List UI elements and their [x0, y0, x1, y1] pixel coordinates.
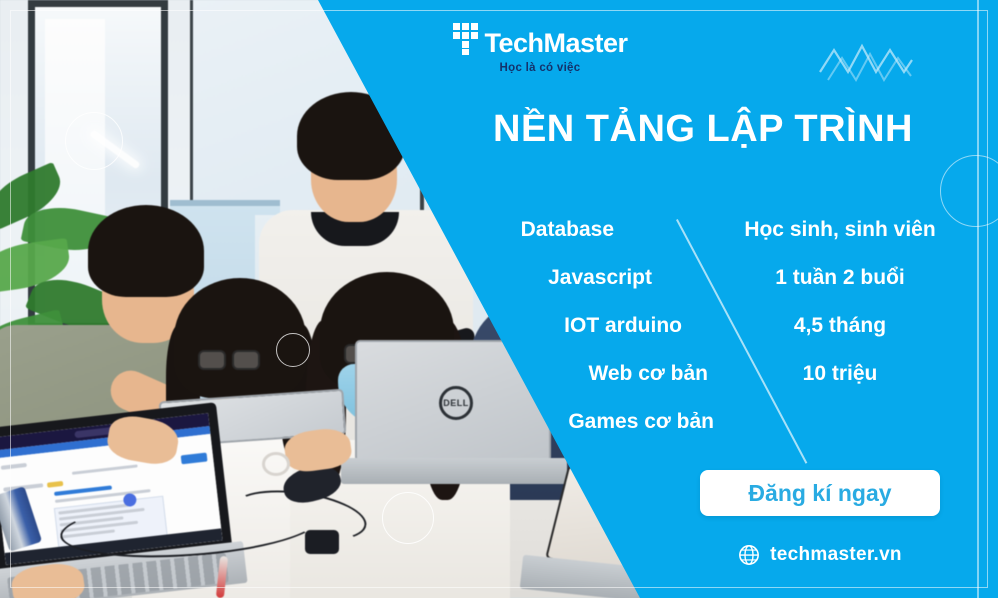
course-topic-item: Web cơ bản — [420, 362, 710, 386]
circle-outline-decoration — [65, 112, 123, 170]
wristwatch — [262, 452, 290, 476]
usb-dongle — [305, 530, 339, 554]
course-topic-item: Database — [420, 218, 710, 242]
course-detail-list: Học sinh, sinh viên 1 tuần 2 buổi 4,5 th… — [700, 218, 980, 410]
logo-tagline: Học là có việc — [420, 62, 660, 74]
course-topic-item: Javascript — [420, 266, 710, 290]
logo-wordmark: TechMaster — [484, 30, 627, 57]
website-link[interactable]: techmaster.vn — [700, 540, 940, 570]
course-topic-item: Games cơ bản — [420, 410, 726, 434]
course-detail-item: 1 tuần 2 buổi — [700, 266, 980, 290]
course-detail-item: 4,5 tháng — [700, 314, 980, 338]
course-topic-list: Database Javascript IOT arduino Web cơ b… — [420, 218, 710, 458]
techmaster-course-banner: DELL — [0, 0, 998, 598]
register-button[interactable]: Đăng kí ngay — [700, 470, 940, 516]
circle-outline-decoration — [382, 492, 434, 544]
course-detail-item: Học sinh, sinh viên — [700, 218, 980, 242]
website-label: techmaster.vn — [770, 544, 902, 566]
circle-outline-decoration — [276, 333, 310, 367]
course-topic-item: IOT arduino — [420, 314, 710, 338]
eyeglasses — [198, 350, 260, 370]
techmaster-grid-t-icon — [452, 22, 488, 56]
techmaster-logo[interactable]: TechMaster Học là có việc — [420, 22, 660, 74]
course-detail-item: 10 triệu — [700, 362, 980, 386]
globe-icon — [738, 544, 760, 566]
zigzag-icon — [818, 36, 914, 82]
page-title: NỀN TẢNG LẬP TRÌNH — [468, 108, 938, 151]
